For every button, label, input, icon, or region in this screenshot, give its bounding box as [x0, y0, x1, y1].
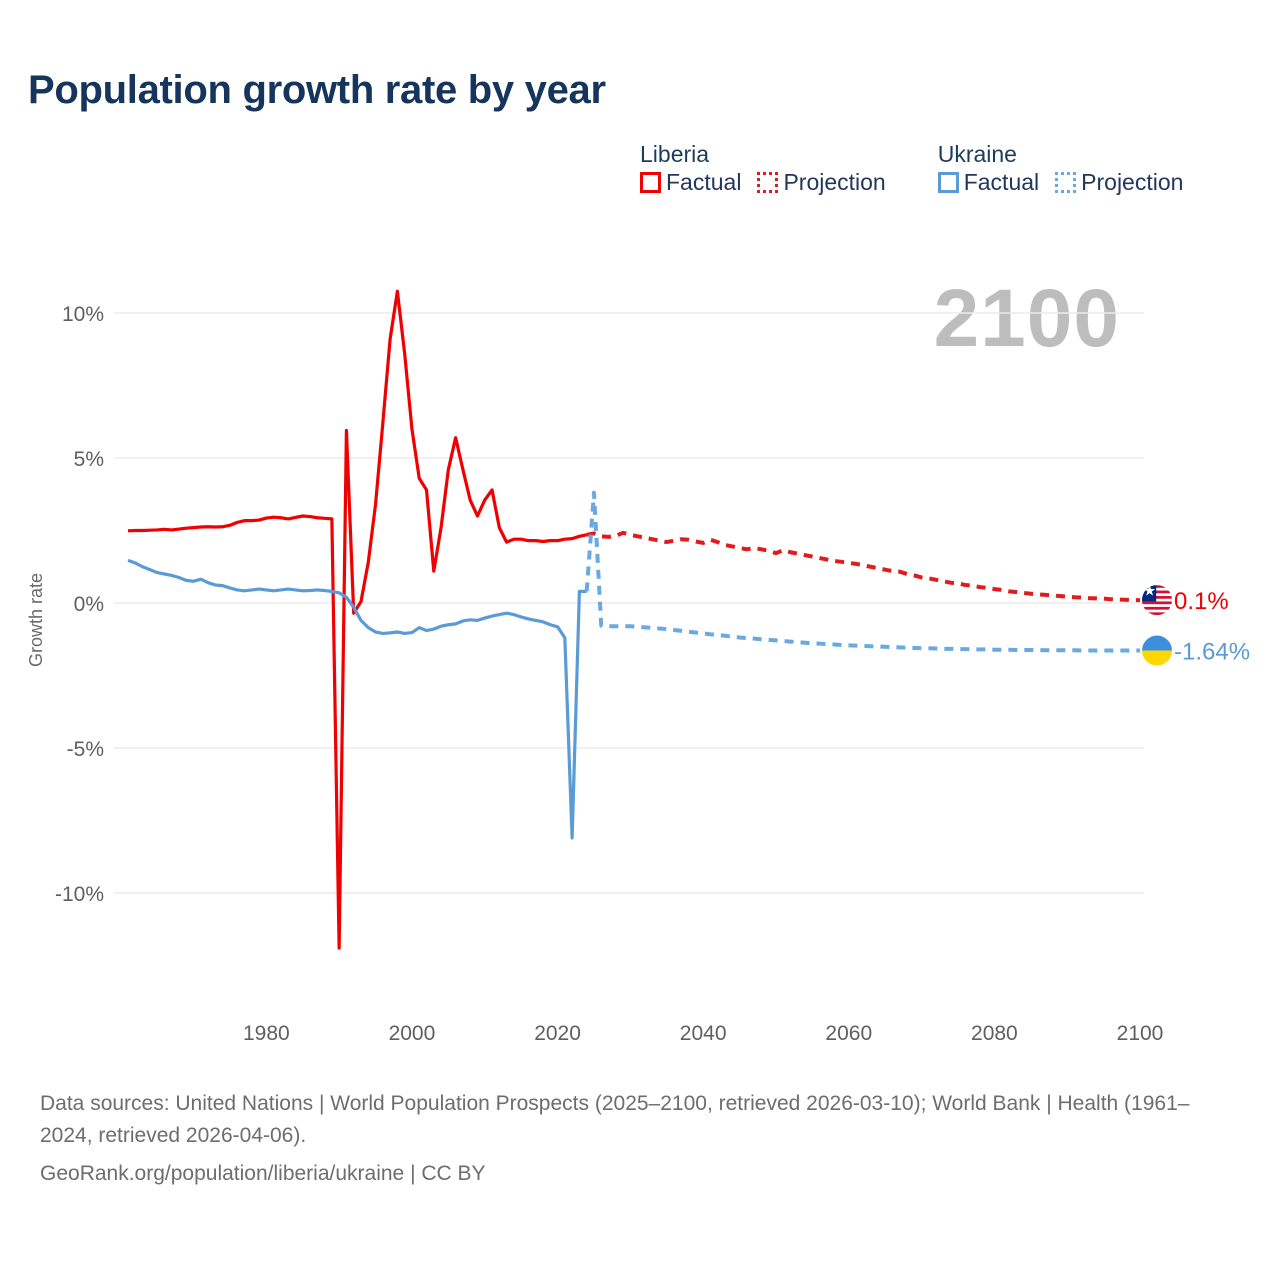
- series-line-liberia-projection: [587, 533, 1140, 600]
- end-labels-group: ★0.1%-1.64%: [1142, 584, 1250, 666]
- end-label-value-liberia: 0.1%: [1174, 588, 1229, 615]
- x-axis-ticks: 1980200020202040206020802100: [243, 1022, 1163, 1045]
- y-tick-label: 5%: [74, 448, 104, 471]
- data-sources-text: Data sources: United Nations | World Pop…: [40, 1088, 1240, 1152]
- x-tick-label: 2080: [971, 1022, 1018, 1045]
- chart-plot-area: 10%5%0%-5%-10% 1980200020202040206020802…: [0, 0, 1280, 1065]
- x-tick-label: 2040: [680, 1022, 727, 1045]
- source-url-text[interactable]: GeoRank.org/population/liberia/ukraine |…: [40, 1158, 1240, 1190]
- x-tick-label: 2100: [1117, 1022, 1164, 1045]
- y-tick-label: 10%: [62, 303, 104, 326]
- x-tick-label: 2020: [534, 1022, 581, 1045]
- growth-rate-line-chart: 10%5%0%-5%-10% 1980200020202040206020802…: [0, 0, 1280, 1060]
- x-tick-label: 1980: [243, 1022, 290, 1045]
- gridlines-group: [114, 313, 1144, 893]
- end-label-value-ukraine: -1.64%: [1174, 639, 1250, 666]
- series-line-ukraine-factual: [128, 560, 587, 838]
- ukraine-flag-icon: [1142, 636, 1172, 666]
- footer-note: Data sources: United Nations | World Pop…: [40, 1088, 1240, 1190]
- svg-text:★: ★: [1143, 584, 1156, 600]
- x-tick-label: 2060: [825, 1022, 872, 1045]
- y-axis-title: Growth rate: [26, 573, 46, 667]
- y-tick-label: -5%: [67, 738, 104, 761]
- y-tick-label: 0%: [74, 593, 104, 616]
- y-axis-ticks: 10%5%0%-5%-10%: [55, 303, 104, 906]
- x-tick-label: 2000: [389, 1022, 436, 1045]
- y-tick-label: -10%: [55, 883, 104, 906]
- liberia-flag-icon: ★: [1142, 584, 1172, 615]
- data-series-group: [128, 291, 1140, 948]
- series-line-ukraine-projection: [587, 493, 1140, 651]
- series-line-liberia-factual: [128, 291, 587, 948]
